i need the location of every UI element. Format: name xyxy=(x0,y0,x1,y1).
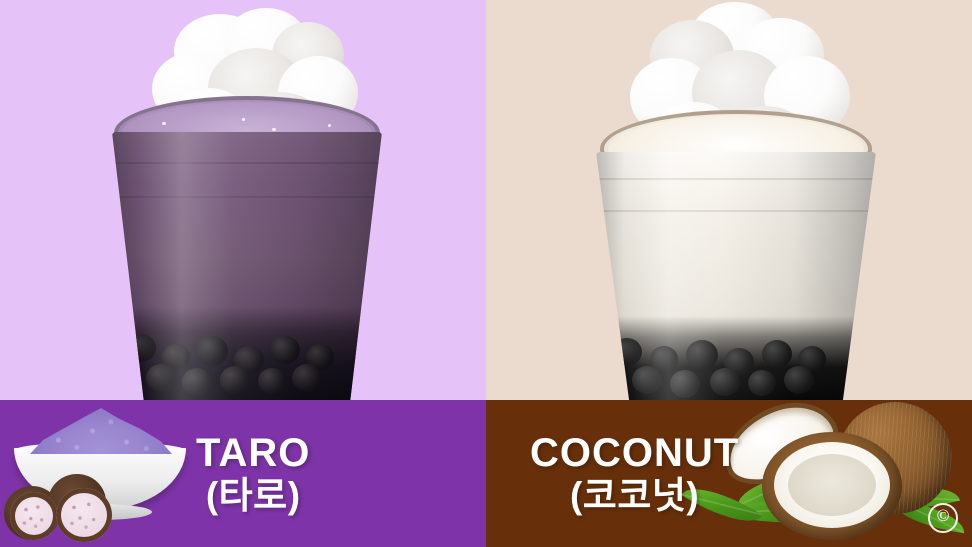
coconut-cavity xyxy=(788,454,876,516)
flavor-name-en-taro: TARO xyxy=(196,430,310,474)
flavor-name-ko-taro: (타로) xyxy=(196,475,310,516)
drink-photo-coconut xyxy=(596,2,876,406)
drink-photo-taro xyxy=(112,8,382,408)
flavor-label-taro: TARO (타로) xyxy=(196,430,310,516)
flavor-name-en-coconut: COCONUT xyxy=(530,430,739,474)
copyright-watermark-icon: © xyxy=(928,503,958,533)
cup-body-taro xyxy=(112,132,382,406)
boba-layer-coconut xyxy=(596,316,876,404)
flavor-band-coconut: COCONUT (코코넛) © xyxy=(486,400,972,547)
flavor-name-ko-coconut: (코코넛) xyxy=(530,475,739,516)
flavor-band-taro: TARO (타로) xyxy=(0,400,486,547)
cup-body-coconut xyxy=(596,152,876,404)
boba-layer-taro xyxy=(112,306,382,406)
flavor-comparison-poster: TARO (타로) COCONUT (코코넛) © xyxy=(0,0,972,547)
taro-powder xyxy=(30,408,172,454)
flavor-label-coconut: COCONUT (코코넛) xyxy=(530,430,739,516)
